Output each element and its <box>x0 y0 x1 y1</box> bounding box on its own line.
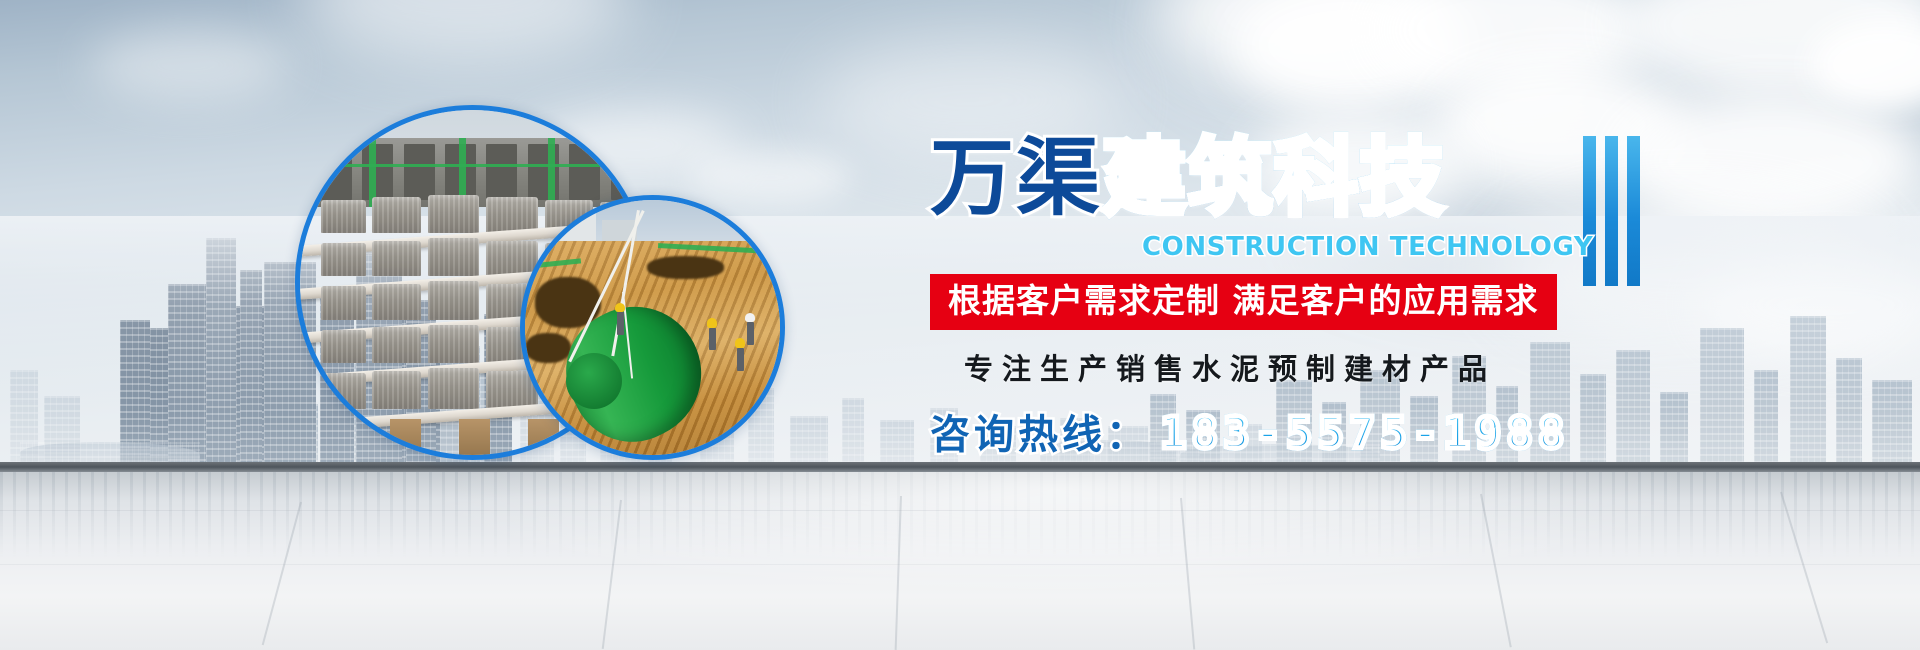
hotline-label: 咨询热线： <box>930 402 1150 460</box>
worker <box>617 312 624 335</box>
worker <box>709 328 716 351</box>
sub-slogan-text: 专注生产销售水泥预制建材产品 <box>964 346 1630 388</box>
brand-name-secondary: 建筑科技 <box>1102 130 1446 226</box>
hotline-block: 咨询热线： 183-5575-1988 <box>930 402 1630 460</box>
reflective-floor <box>0 472 1920 650</box>
company-promo-banner: 万渠 建筑科技 CONSTRUCTION TECHNOLOGY 根据客户需求定制… <box>0 0 1920 650</box>
cloud <box>90 30 290 100</box>
hotline-number[interactable]: 183-5575-1988 <box>1160 408 1569 459</box>
cloud <box>690 150 850 205</box>
brand-english-subtitle: CONSTRUCTION TECHNOLOGY <box>1142 232 1630 262</box>
worker <box>747 322 754 345</box>
decorative-bars-icon <box>1583 136 1640 286</box>
marketing-copy: 万渠 建筑科技 CONSTRUCTION TECHNOLOGY 根据客户需求定制… <box>930 130 1630 460</box>
ground-curb <box>0 462 1920 472</box>
septic-tank-image <box>525 200 780 455</box>
floor-sheen <box>0 472 1920 650</box>
red-slogan-text: 根据客户需求定制 满足客户的应用需求 <box>948 281 1539 320</box>
brand-logo: 万渠 建筑科技 <box>930 130 1630 238</box>
photo-septic-tank-installation <box>520 195 785 460</box>
worker <box>737 348 744 371</box>
brand-name-primary: 万渠 <box>930 130 1102 226</box>
red-slogan-banner: 根据客户需求定制 满足客户的应用需求 <box>930 274 1557 330</box>
